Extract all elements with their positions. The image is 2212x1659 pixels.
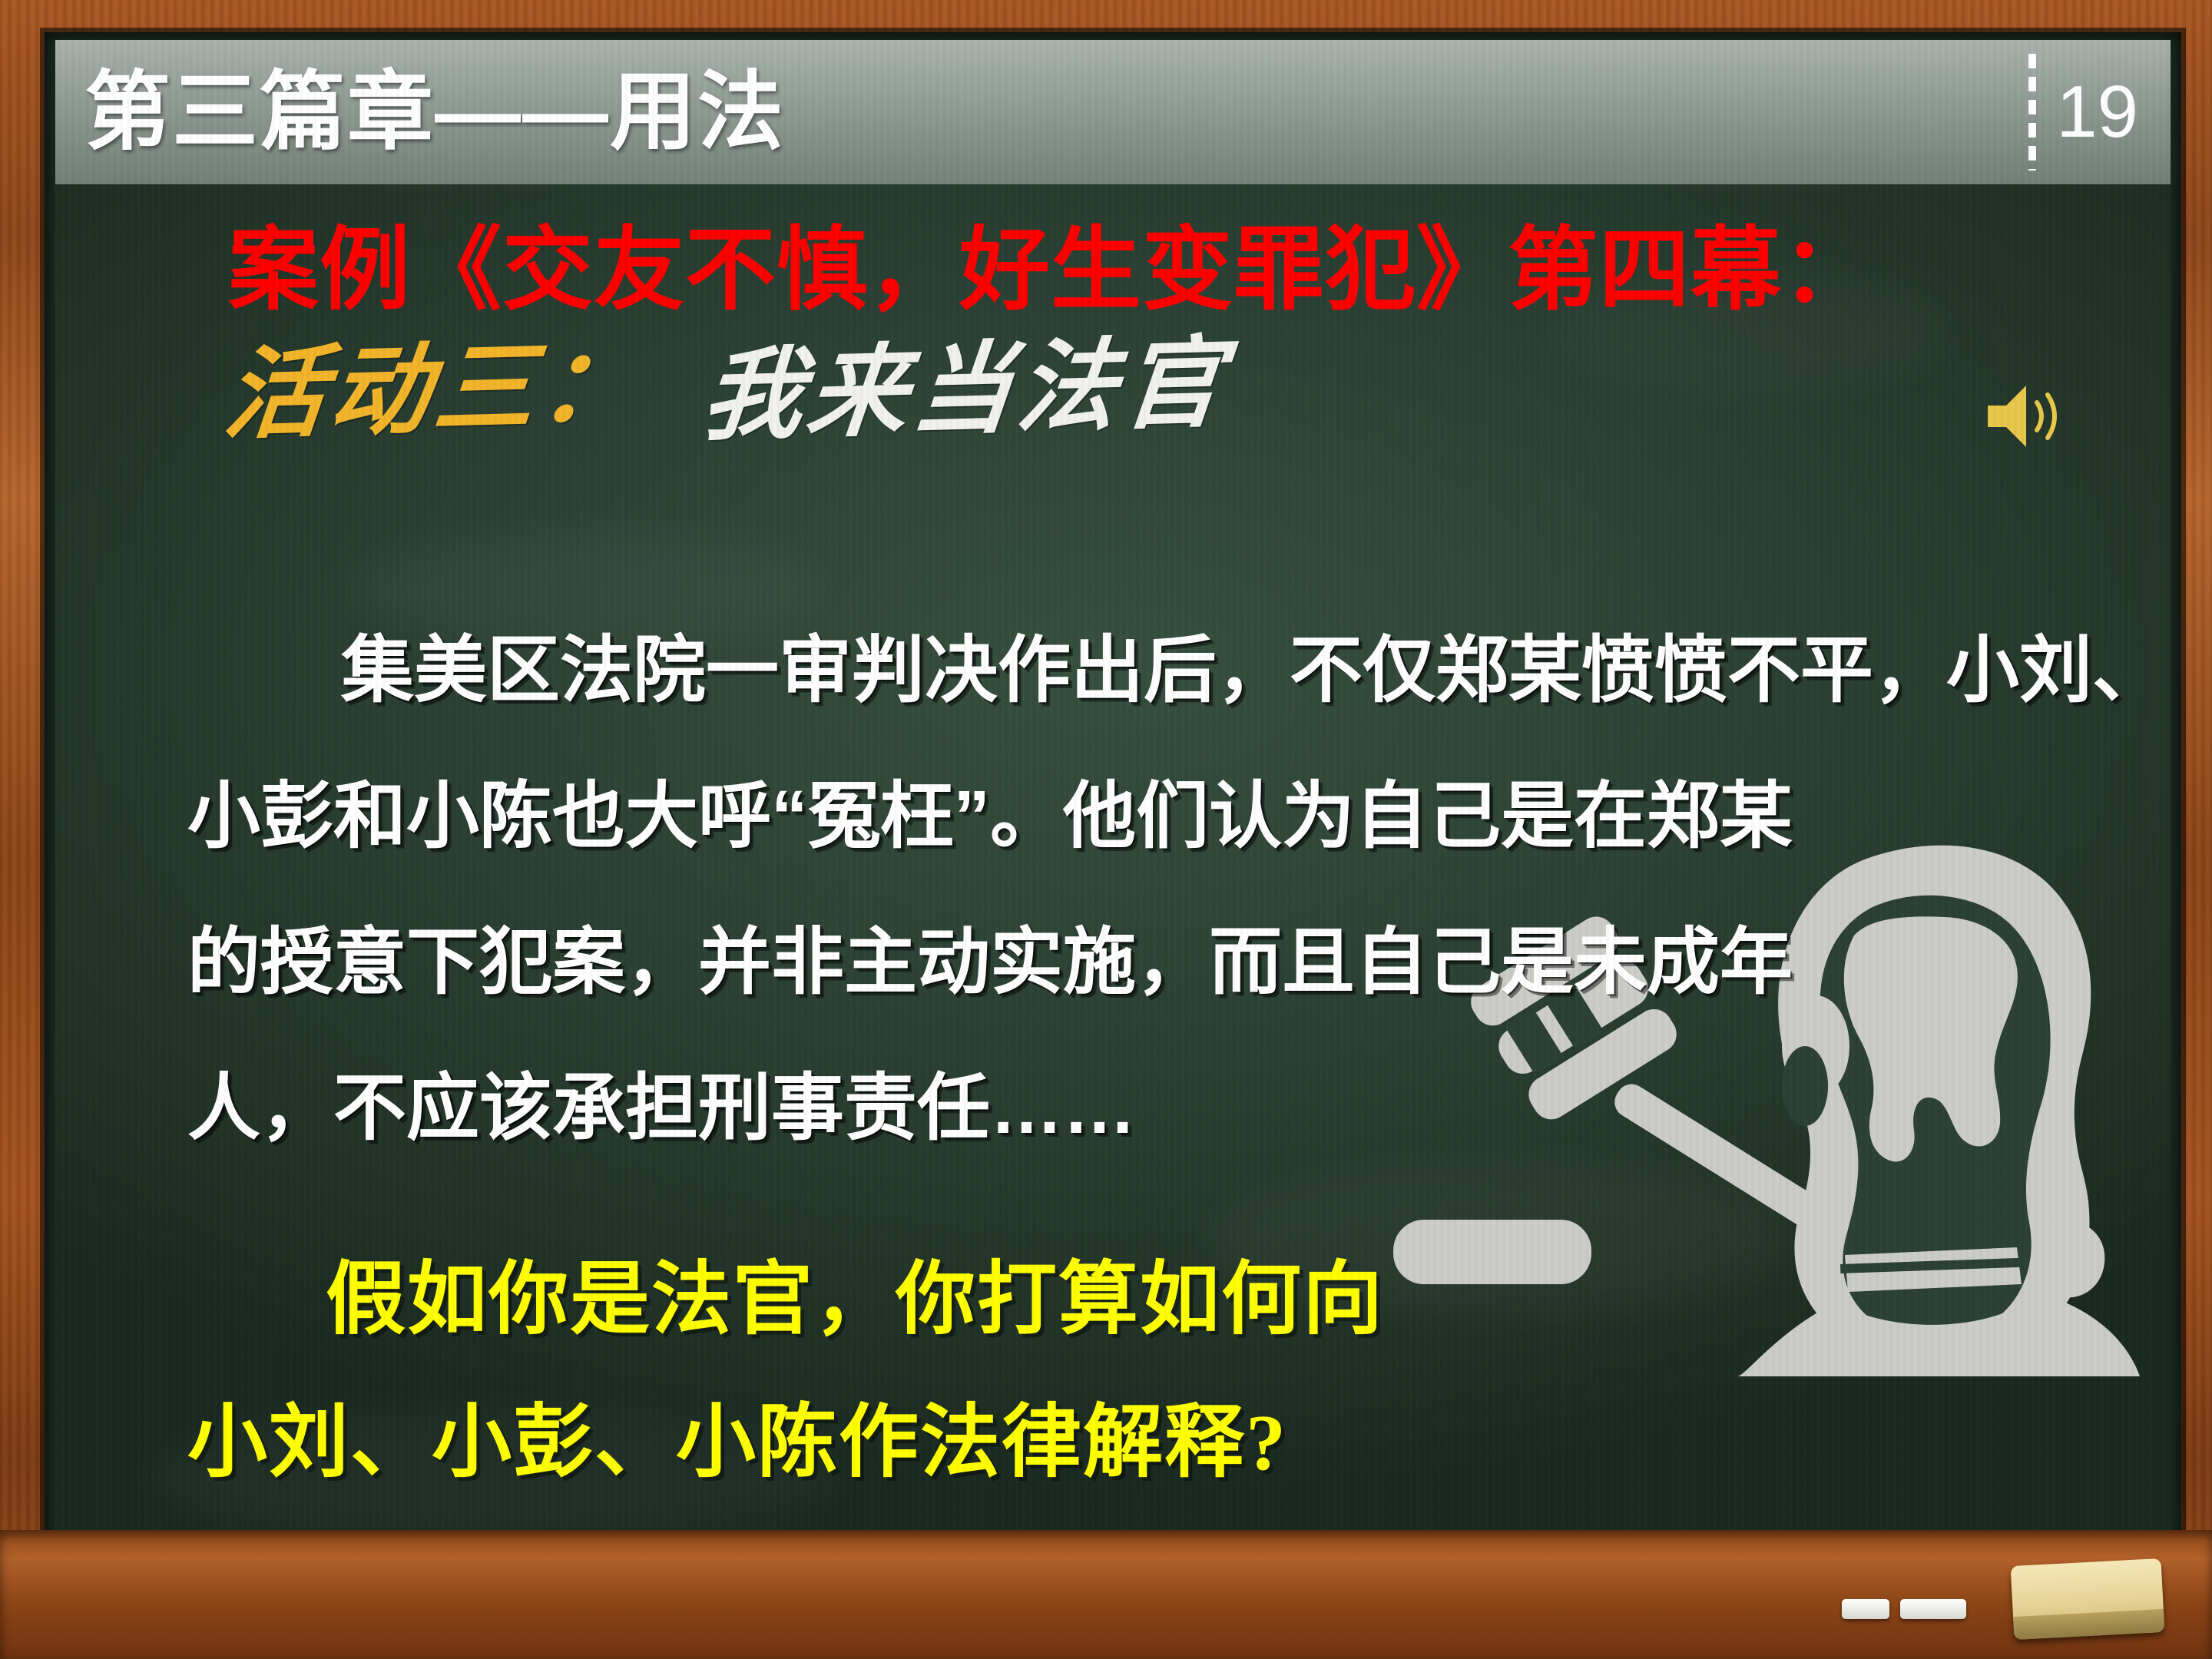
activity-heading: 活动三： 我来当法官 <box>226 341 1226 441</box>
body-line: 人，不应该承担刑事责任…… <box>187 1035 2092 1181</box>
page-number-group: 19 <box>2028 51 2138 174</box>
body-line: 小彭和小陈也大呼“冤枉”。他们认为自己是在郑某 <box>187 743 2092 889</box>
eraser-felt <box>2013 1609 2164 1640</box>
chalk-ledge <box>0 1530 2212 1659</box>
slide-root: 第三篇章——用法 19 案例《交友不慎，好生变罪犯》第四幕： 活动三： 我来当法… <box>0 0 2212 1659</box>
question-line: 假如你是法官，你打算如何向 <box>187 1229 1384 1372</box>
chalkboard-surface: 第三篇章——用法 19 案例《交友不慎，好生变罪犯》第四幕： 活动三： 我来当法… <box>55 40 2171 1535</box>
page-number: 19 <box>2056 75 2138 149</box>
header-banner: 第三篇章——用法 19 <box>55 40 2171 184</box>
board-eraser <box>2011 1558 2165 1640</box>
question-block: 假如你是法官，你打算如何向 小刘、小彭、小陈作法律解释? <box>187 1229 1384 1515</box>
chalk-stick <box>1842 1599 1889 1619</box>
body-line: 集美区法院一审判决作出后，不仅郑某愤愤不平，小刘、 <box>187 598 2092 743</box>
activity-label: 活动三： <box>220 336 649 446</box>
speaker-icon[interactable] <box>1983 379 2066 453</box>
page-title: 第三篇章——用法 <box>84 69 785 155</box>
question-line: 小刘、小彭、小陈作法律解释? <box>187 1372 1384 1515</box>
case-title: 案例《交友不慎，好生变罪犯》第四幕： <box>228 221 1873 321</box>
body-line: 的授意下犯案，并非主动实施，而且自己是未成年 <box>187 889 2092 1035</box>
chalk-stick <box>1900 1599 1966 1619</box>
activity-name: 我来当法官 <box>698 334 1232 448</box>
body-paragraph: 集美区法院一审判决作出后，不仅郑某愤愤不平，小刘、 小彭和小陈也大呼“冤枉”。他… <box>187 598 2092 1181</box>
dashed-divider-icon <box>2028 54 2036 171</box>
